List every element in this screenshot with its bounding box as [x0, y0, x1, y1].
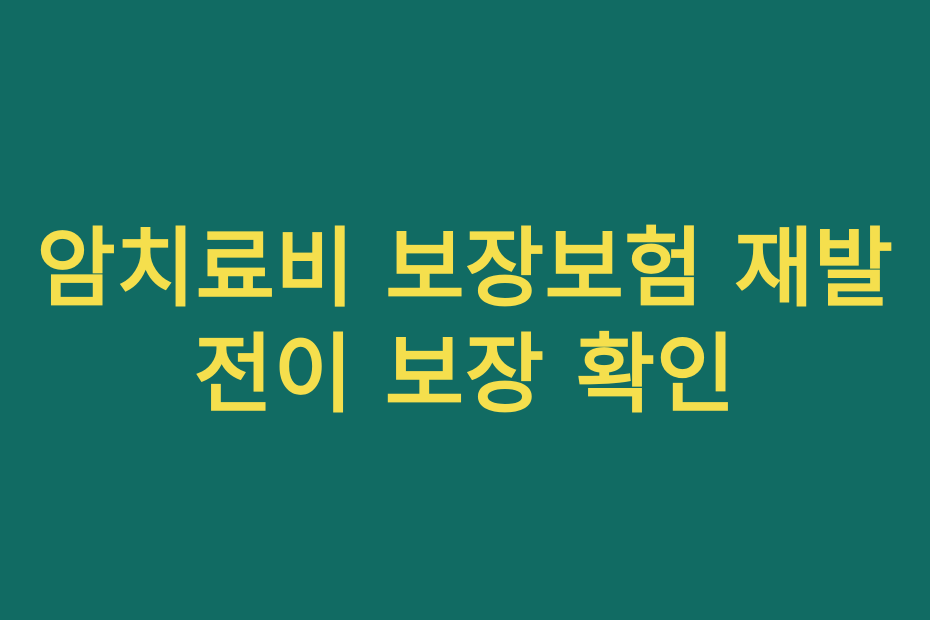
title-line-2: 전이 보장 확인 — [0, 322, 930, 428]
title-card: 암치료비 보장보험 재발 전이 보장 확인 — [0, 0, 930, 620]
page-title: 암치료비 보장보험 재발 전이 보장 확인 — [0, 216, 930, 428]
title-line-1: 암치료비 보장보험 재발 — [0, 216, 930, 322]
